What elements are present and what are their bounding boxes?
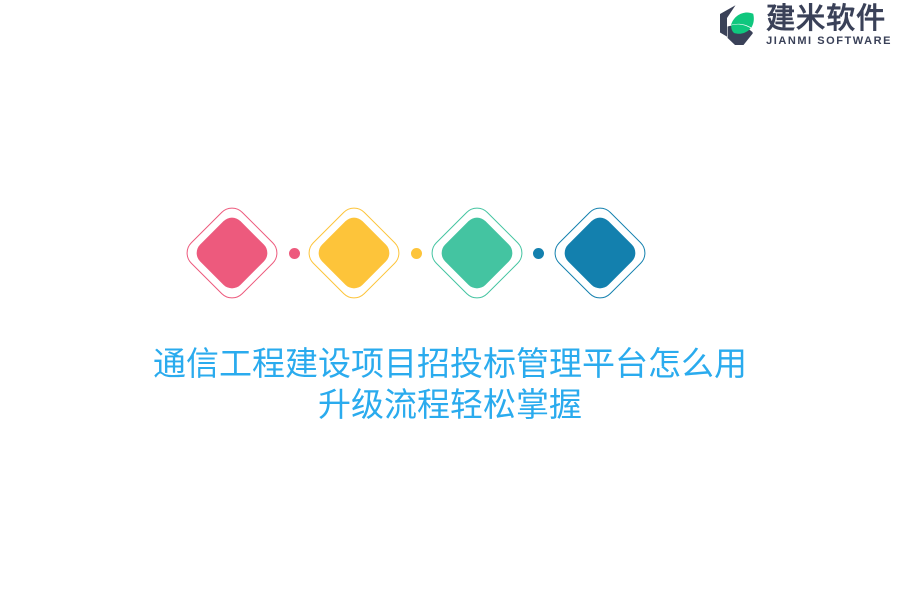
decorative-diamond-row bbox=[0, 200, 900, 306]
connector-dot-yellow bbox=[411, 248, 422, 259]
jianmi-leaf-hexagon-logo-icon bbox=[714, 2, 760, 48]
diamond-yellow bbox=[301, 200, 407, 306]
brand-name-en: JIANMI SOFTWARE bbox=[766, 36, 892, 47]
page-title-line-1: 通信工程建设项目招投标管理平台怎么用 bbox=[0, 343, 900, 384]
diamond-blue-fill bbox=[560, 213, 641, 294]
diamond-yellow-fill bbox=[314, 213, 395, 294]
brand-header: 建米软件 JIANMI SOFTWARE bbox=[714, 0, 892, 50]
diamond-pink bbox=[179, 200, 285, 306]
connector-dot-pink bbox=[289, 248, 300, 259]
diamond-pink-fill bbox=[192, 213, 273, 294]
diamond-green bbox=[424, 200, 530, 306]
connector-dot-blue bbox=[533, 248, 544, 259]
brand-text: 建米软件 JIANMI SOFTWARE bbox=[766, 3, 892, 47]
diamond-blue bbox=[547, 200, 653, 306]
page-title: 通信工程建设项目招投标管理平台怎么用 升级流程轻松掌握 bbox=[0, 343, 900, 425]
page-title-line-2: 升级流程轻松掌握 bbox=[0, 384, 900, 425]
brand-name-cn: 建米软件 bbox=[766, 3, 892, 33]
diamond-green-fill bbox=[437, 213, 518, 294]
